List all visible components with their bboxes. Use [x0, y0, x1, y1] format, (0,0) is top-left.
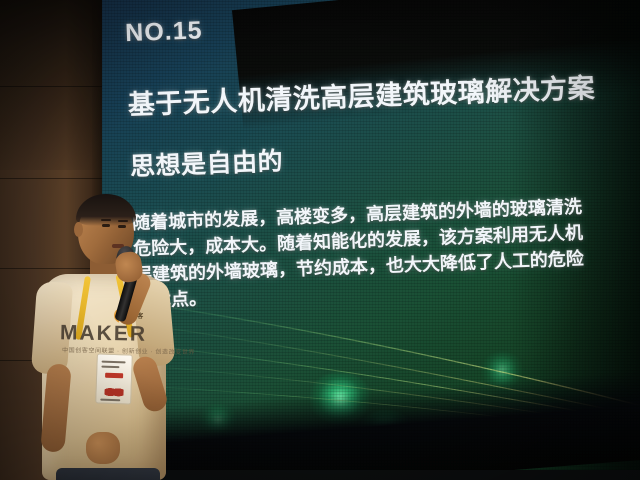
slide-number: NO.15: [125, 16, 203, 48]
slide-subtitle: 思想是自由的: [129, 141, 283, 183]
speaker: MAKER 中国创客空间联盟 · 创新创业 · 创造改变世界 创客: [18, 196, 208, 480]
id-badge: [95, 353, 133, 404]
hand-left: [86, 432, 120, 464]
slide-title: 基于无人机清洗高层建筑玻璃解决方案: [127, 66, 596, 122]
eye-right: [118, 225, 126, 228]
eye-left: [102, 224, 110, 227]
ear: [74, 222, 83, 237]
eyebrow-right: [118, 220, 128, 222]
trousers: [56, 468, 160, 480]
presentation-photo: NO.15 基于无人机清洗高层建筑玻璃解决方案 思想是自由的 随着城市的发展，高…: [0, 0, 640, 480]
eyebrow-left: [101, 219, 111, 221]
shirt-maker-text: MAKER: [60, 321, 147, 347]
